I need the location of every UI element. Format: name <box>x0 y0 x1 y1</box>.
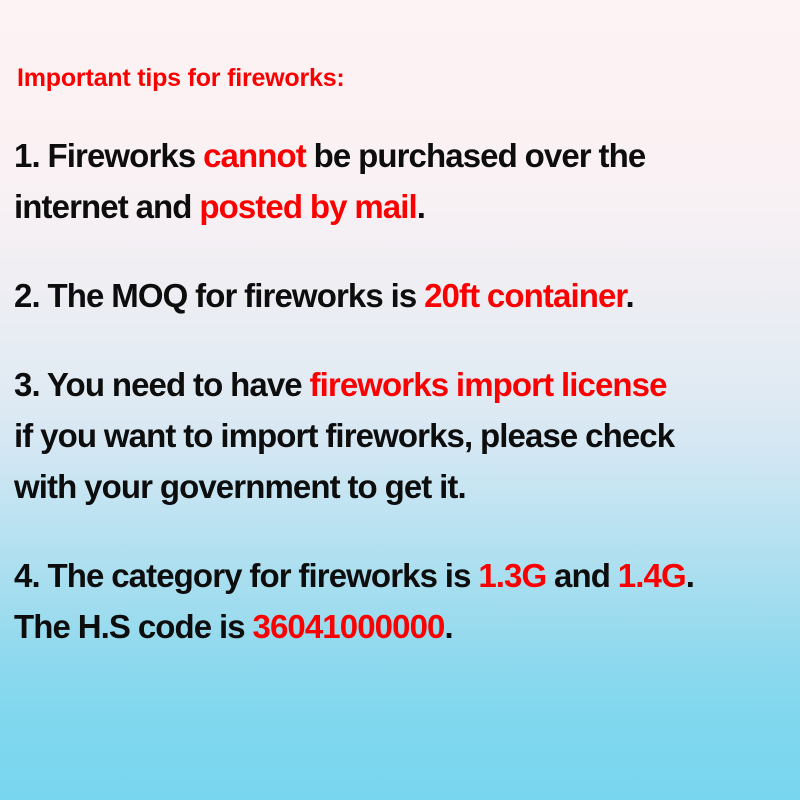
tip-item: 2. The MOQ for fireworks is 20ft contain… <box>14 270 786 321</box>
tip-line: 1. Fireworks cannot be purchased over th… <box>14 130 786 181</box>
tips-list: 1. Fireworks cannot be purchased over th… <box>14 130 786 652</box>
highlighted-text: cannot <box>203 137 306 174</box>
body-text: 4. The category for fireworks is <box>14 557 478 594</box>
body-text: internet and <box>14 188 199 225</box>
body-text: with your government to get it. <box>14 468 466 505</box>
tip-line: if you want to import fireworks, please … <box>14 410 786 461</box>
body-text: The H.S code is <box>14 608 253 645</box>
tip-line: 4. The category for fireworks is 1.3G an… <box>14 550 786 601</box>
highlighted-text: 36041000000 <box>253 608 445 645</box>
tip-line: internet and posted by mail. <box>14 181 786 232</box>
tip-item: 1. Fireworks cannot be purchased over th… <box>14 130 786 232</box>
highlighted-text: 20ft container <box>424 277 625 314</box>
page-title: Important tips for fireworks: <box>17 62 786 94</box>
fireworks-tips-poster: Important tips for fireworks: 1. Firewor… <box>0 0 800 800</box>
poster-content: Important tips for fireworks: 1. Firewor… <box>14 62 786 652</box>
body-text: if you want to import fireworks, please … <box>14 417 674 454</box>
tip-line: with your government to get it. <box>14 461 786 512</box>
tip-line: The H.S code is 36041000000. <box>14 601 786 652</box>
body-text: 2. The MOQ for fireworks is <box>14 277 424 314</box>
tip-line: 3. You need to have fireworks import lic… <box>14 359 786 410</box>
body-text: 3. You need to have <box>14 366 310 403</box>
body-text: . <box>626 277 634 314</box>
body-text: . <box>686 557 694 594</box>
tip-item: 3. You need to have fireworks import lic… <box>14 359 786 512</box>
body-text: and <box>546 557 618 594</box>
body-text: be purchased over the <box>306 137 645 174</box>
body-text: 1. Fireworks <box>14 137 203 174</box>
tip-line: 2. The MOQ for fireworks is 20ft contain… <box>14 270 786 321</box>
highlighted-text: 1.4G <box>618 557 686 594</box>
highlighted-text: 1.3G <box>478 557 546 594</box>
highlighted-text: posted by mail <box>199 188 416 225</box>
body-text: . <box>444 608 452 645</box>
body-text: . <box>417 188 425 225</box>
highlighted-text: fireworks import license <box>310 366 667 403</box>
tip-item: 4. The category for fireworks is 1.3G an… <box>14 550 786 652</box>
